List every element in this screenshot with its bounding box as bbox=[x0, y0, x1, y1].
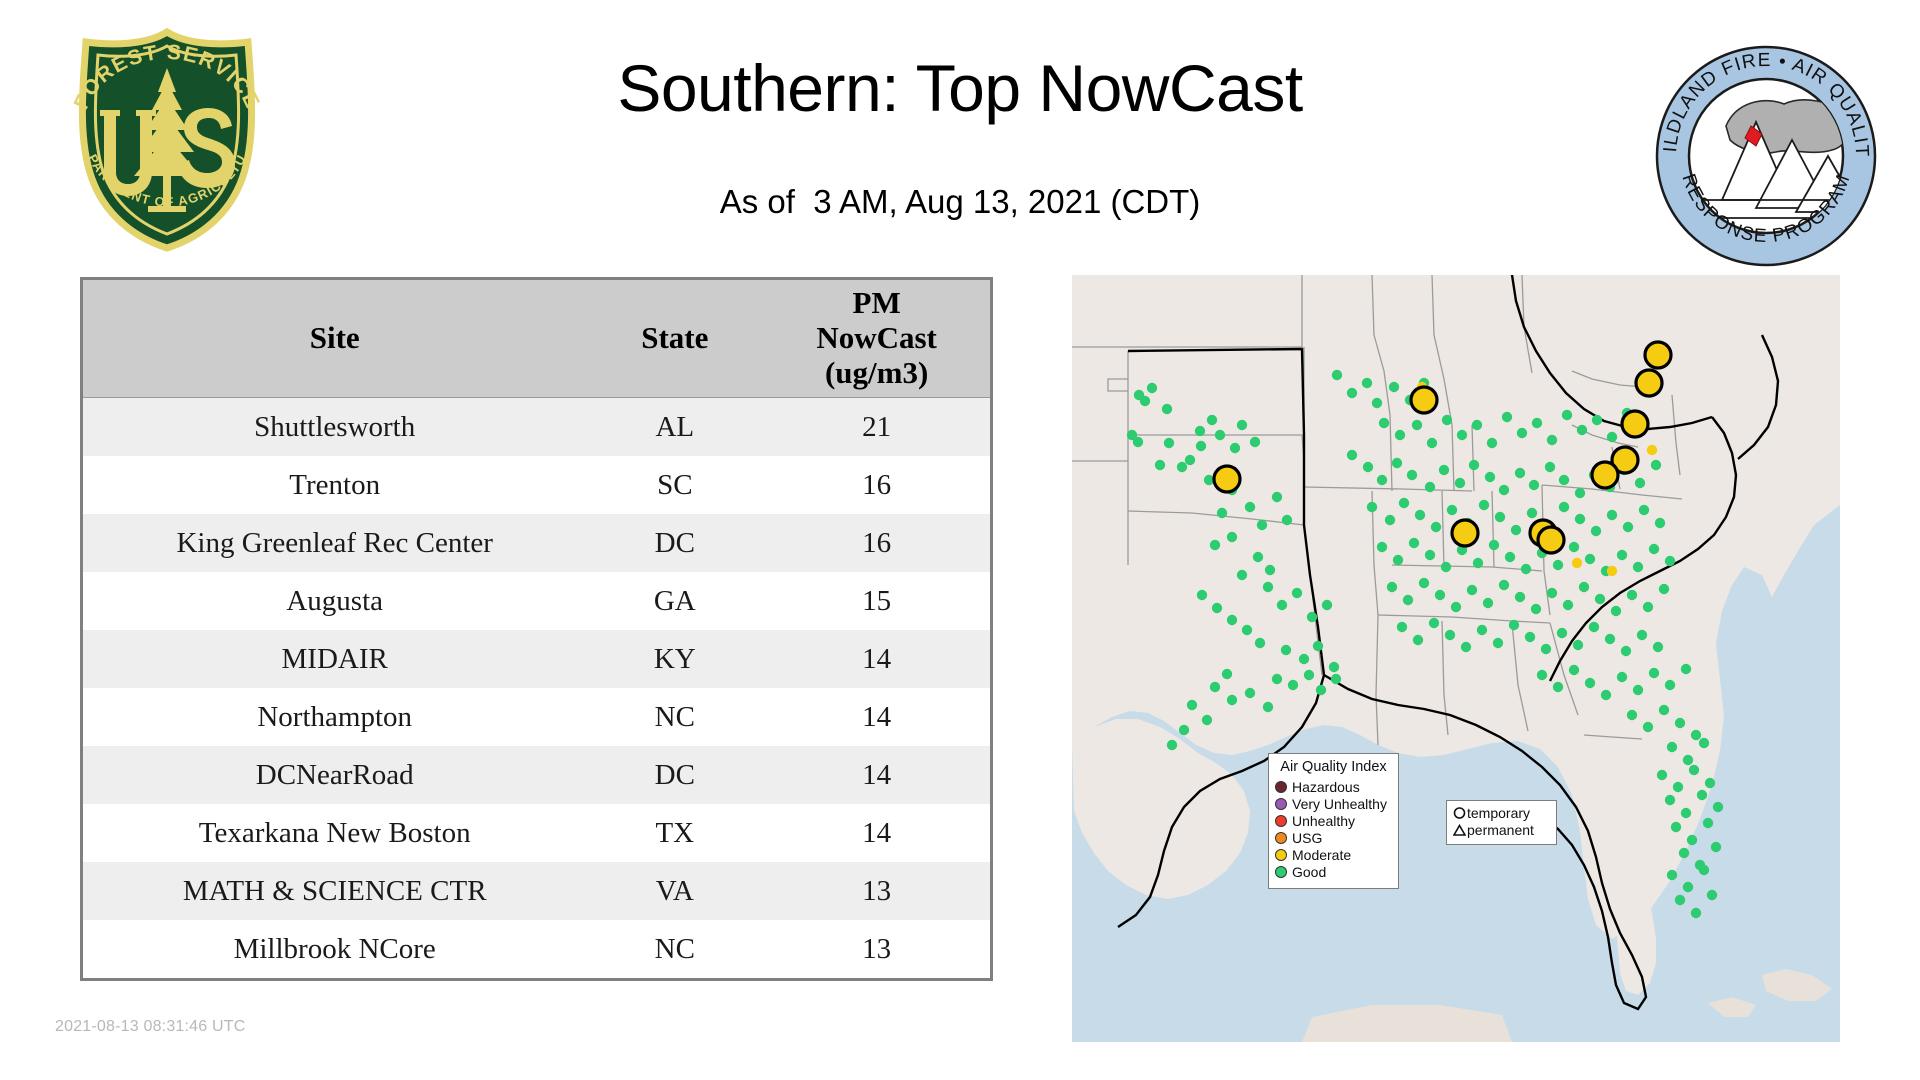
station-marker-good[interactable] bbox=[1643, 722, 1653, 732]
station-marker-good[interactable] bbox=[1429, 618, 1439, 628]
station-marker-good[interactable] bbox=[1227, 532, 1237, 542]
station-marker-good[interactable] bbox=[1425, 550, 1435, 560]
station-marker-good[interactable] bbox=[1451, 602, 1461, 612]
station-marker-good[interactable] bbox=[1515, 592, 1525, 602]
station-marker-good[interactable] bbox=[1367, 502, 1377, 512]
nowcast-table-panel: Site State PM NowCast (ug/m3) Shuttleswo… bbox=[80, 277, 993, 981]
station-marker-good[interactable] bbox=[1559, 475, 1569, 485]
station-marker-good[interactable] bbox=[1635, 478, 1645, 488]
station-marker-good[interactable] bbox=[1472, 420, 1482, 430]
station-marker-good[interactable] bbox=[1681, 664, 1691, 674]
station-marker-good[interactable] bbox=[1392, 458, 1402, 468]
wfaqrp-logo: WILDLAND FIRE • AIR QUALITY RESPONSE PRO… bbox=[1652, 42, 1880, 270]
station-marker-good[interactable] bbox=[1207, 415, 1217, 425]
station-marker-moderate[interactable] bbox=[1607, 566, 1617, 576]
legend-label-permanent: permanent bbox=[1467, 823, 1534, 838]
station-marker-good[interactable] bbox=[1397, 622, 1407, 632]
highlighted-station-marker[interactable]: Augusta (GA) bbox=[1538, 527, 1564, 553]
nowcast-table: Site State PM NowCast (ug/m3) Shuttleswo… bbox=[83, 280, 990, 978]
station-marker-good[interactable] bbox=[1502, 412, 1512, 422]
column-header-state: State bbox=[586, 280, 763, 397]
station-marker-good[interactable] bbox=[1665, 680, 1675, 690]
station-marker-good[interactable] bbox=[1257, 520, 1267, 530]
station-marker-good[interactable] bbox=[1329, 662, 1339, 672]
station-marker-good[interactable] bbox=[1495, 512, 1505, 522]
station-marker-good[interactable] bbox=[1545, 462, 1555, 472]
station-marker-good[interactable] bbox=[1155, 460, 1165, 470]
station-marker-good[interactable] bbox=[1659, 705, 1669, 715]
station-marker-good[interactable] bbox=[1425, 482, 1435, 492]
station-marker-good[interactable] bbox=[1585, 554, 1595, 564]
pm-cell: 13 bbox=[763, 920, 990, 978]
station-marker-good[interactable] bbox=[1316, 685, 1326, 695]
station-marker-good[interactable] bbox=[1387, 582, 1397, 592]
station-marker-good[interactable] bbox=[1140, 396, 1150, 406]
station-marker-good[interactable] bbox=[1292, 588, 1302, 598]
station-marker-good[interactable] bbox=[1412, 420, 1422, 430]
station-marker-good[interactable] bbox=[1485, 472, 1495, 482]
station-marker-good[interactable] bbox=[1253, 552, 1263, 562]
aqi-swatch-icon bbox=[1275, 815, 1287, 827]
station-marker-good[interactable] bbox=[1711, 842, 1721, 852]
station-marker-good[interactable] bbox=[1409, 538, 1419, 548]
station-marker-good[interactable] bbox=[1195, 426, 1205, 436]
site-cell: Millbrook NCore bbox=[83, 920, 586, 978]
highlighted-station-marker[interactable]: Texarkana New Boston (TX) bbox=[1214, 466, 1240, 492]
state-cell: TX bbox=[586, 804, 763, 862]
aqi-swatch-icon bbox=[1275, 832, 1287, 844]
station-marker-good[interactable] bbox=[1499, 580, 1509, 590]
aqi-swatch-icon bbox=[1275, 849, 1287, 861]
pm-cell: 14 bbox=[763, 804, 990, 862]
pm-cell: 14 bbox=[763, 688, 990, 746]
station-marker-good[interactable] bbox=[1532, 418, 1542, 428]
state-cell: SC bbox=[586, 456, 763, 514]
table-row: Texarkana New BostonTX14 bbox=[83, 804, 990, 862]
generation-timestamp: 2021-08-13 08:31:46 UTC bbox=[55, 1018, 246, 1036]
station-marker-good[interactable] bbox=[1227, 695, 1237, 705]
station-marker-good[interactable] bbox=[1441, 562, 1451, 572]
station-marker-good[interactable] bbox=[1447, 505, 1457, 515]
station-marker-good[interactable] bbox=[1304, 670, 1314, 680]
station-marker-good[interactable] bbox=[1442, 415, 1452, 425]
station-marker-good[interactable] bbox=[1185, 455, 1195, 465]
aqi-legend-label: USG bbox=[1292, 831, 1322, 846]
state-cell: AL bbox=[586, 397, 763, 456]
station-marker-good[interactable] bbox=[1515, 468, 1525, 478]
station-marker-good[interactable] bbox=[1562, 410, 1572, 420]
station-marker-good[interactable] bbox=[1601, 690, 1611, 700]
table-row: King Greenleaf Rec CenterDC16 bbox=[83, 514, 990, 572]
station-marker-good[interactable] bbox=[1563, 600, 1573, 610]
station-marker-good[interactable] bbox=[1607, 432, 1617, 442]
highlighted-station-marker[interactable]: DCNearRoad (DC) bbox=[1645, 342, 1671, 368]
station-marker-good[interactable] bbox=[1509, 620, 1519, 630]
aqi-legend-label: Very Unhealthy bbox=[1292, 797, 1387, 812]
station-marker-good[interactable] bbox=[1372, 398, 1382, 408]
station-marker-good[interactable] bbox=[1347, 388, 1357, 398]
station-marker-good[interactable] bbox=[1272, 492, 1282, 502]
station-marker-good[interactable] bbox=[1347, 450, 1357, 460]
state-cell: DC bbox=[586, 746, 763, 804]
station-marker-good[interactable] bbox=[1377, 475, 1387, 485]
station-marker-good[interactable] bbox=[1633, 685, 1643, 695]
station-marker-good[interactable] bbox=[1277, 600, 1287, 610]
station-marker-good[interactable] bbox=[1655, 518, 1665, 528]
station-marker-good[interactable] bbox=[1679, 848, 1689, 858]
station-marker-good[interactable] bbox=[1307, 612, 1317, 622]
site-cell: MATH & SCIENCE CTR bbox=[83, 862, 586, 920]
station-marker-good[interactable] bbox=[1683, 755, 1693, 765]
highlighted-station-marker[interactable]: Millbrook NCore (NC) bbox=[1592, 462, 1618, 488]
station-marker-good[interactable] bbox=[1439, 465, 1449, 475]
station-marker-good[interactable] bbox=[1230, 443, 1240, 453]
state-cell: DC bbox=[586, 514, 763, 572]
pm-cell: 16 bbox=[763, 514, 990, 572]
station-marker-good[interactable] bbox=[1215, 430, 1225, 440]
station-marker-good[interactable] bbox=[1521, 564, 1531, 574]
station-marker-good[interactable] bbox=[1505, 552, 1515, 562]
table-row: DCNearRoadDC14 bbox=[83, 746, 990, 804]
station-marker-good[interactable] bbox=[1577, 425, 1587, 435]
station-marker-good[interactable] bbox=[1461, 642, 1471, 652]
site-cell: Augusta bbox=[83, 572, 586, 630]
station-marker-good[interactable] bbox=[1569, 542, 1579, 552]
table-header-row: Site State PM NowCast (ug/m3) bbox=[83, 280, 990, 397]
station-marker-good[interactable] bbox=[1547, 435, 1557, 445]
station-marker-good[interactable] bbox=[1210, 540, 1220, 550]
station-marker-good[interactable] bbox=[1585, 678, 1595, 688]
highlighted-station-marker[interactable]: Northampton (NC) bbox=[1622, 411, 1648, 437]
station-marker-good[interactable] bbox=[1617, 672, 1627, 682]
station-marker-good[interactable] bbox=[1363, 462, 1373, 472]
table-row: AugustaGA15 bbox=[83, 572, 990, 630]
highlighted-station-marker[interactable]: King Greenleaf Rec Center (DC) bbox=[1636, 370, 1662, 396]
station-marker-good[interactable] bbox=[1217, 508, 1227, 518]
station-marker-good[interactable] bbox=[1419, 578, 1429, 588]
aqi-legend-row: Very Unhealthy bbox=[1275, 796, 1392, 813]
station-marker-good[interactable] bbox=[1653, 642, 1663, 652]
station-marker-good[interactable] bbox=[1389, 382, 1399, 392]
station-marker-good[interactable] bbox=[1589, 622, 1599, 632]
station-marker-good[interactable] bbox=[1667, 870, 1677, 880]
station-marker-good[interactable] bbox=[1573, 640, 1583, 650]
station-marker-good[interactable] bbox=[1591, 526, 1601, 536]
station-marker-good[interactable] bbox=[1147, 383, 1157, 393]
triangle-outline-icon bbox=[1452, 824, 1467, 837]
station-marker-good[interactable] bbox=[1517, 428, 1527, 438]
station-marker-good[interactable] bbox=[1649, 544, 1659, 554]
station-marker-good[interactable] bbox=[1607, 510, 1617, 520]
station-marker-good[interactable] bbox=[1196, 441, 1206, 451]
station-marker-good[interactable] bbox=[1595, 594, 1605, 604]
state-cell: KY bbox=[586, 630, 763, 688]
station-marker-good[interactable] bbox=[1469, 460, 1479, 470]
table-row: MATH & SCIENCE CTRVA13 bbox=[83, 862, 990, 920]
station-marker-good[interactable] bbox=[1627, 590, 1637, 600]
station-marker-good[interactable] bbox=[1547, 588, 1557, 598]
station-marker-good[interactable] bbox=[1379, 418, 1389, 428]
station-marker-good[interactable] bbox=[1671, 822, 1681, 832]
aqi-legend-row: Hazardous bbox=[1275, 779, 1392, 796]
station-marker-good[interactable] bbox=[1263, 702, 1273, 712]
aqi-legend-row: USG bbox=[1275, 830, 1392, 847]
aqi-swatch-icon bbox=[1275, 866, 1287, 878]
station-marker-good[interactable] bbox=[1559, 502, 1569, 512]
station-marker-good[interactable] bbox=[1377, 542, 1387, 552]
state-cell: GA bbox=[586, 572, 763, 630]
page-subtitle: As of 3 AM, Aug 13, 2021 (CDT) bbox=[300, 185, 1620, 218]
station-marker-good[interactable] bbox=[1621, 646, 1631, 656]
pm-cell: 15 bbox=[763, 572, 990, 630]
station-marker-good[interactable] bbox=[1681, 808, 1691, 818]
station-marker-good[interactable] bbox=[1250, 437, 1260, 447]
station-marker-good[interactable] bbox=[1133, 437, 1143, 447]
station-marker-good[interactable] bbox=[1479, 500, 1489, 510]
station-marker-good[interactable] bbox=[1691, 730, 1701, 740]
station-marker-good[interactable] bbox=[1487, 438, 1497, 448]
station-marker-good[interactable] bbox=[1313, 641, 1323, 651]
station-marker-good[interactable] bbox=[1527, 508, 1537, 518]
station-marker-good[interactable] bbox=[1657, 770, 1667, 780]
site-cell: King Greenleaf Rec Center bbox=[83, 514, 586, 572]
legend-label-temporary: temporary bbox=[1467, 806, 1530, 821]
state-cell: NC bbox=[586, 920, 763, 978]
station-marker-good[interactable] bbox=[1197, 590, 1207, 600]
site-cell: Trenton bbox=[83, 456, 586, 514]
station-marker-good[interactable] bbox=[1665, 556, 1675, 566]
station-marker-good[interactable] bbox=[1665, 795, 1675, 805]
station-marker-good[interactable] bbox=[1575, 514, 1585, 524]
aqi-legend-row: Moderate bbox=[1275, 847, 1392, 864]
station-marker-good[interactable] bbox=[1455, 478, 1465, 488]
aqi-legend: Air Quality Index HazardousVery Unhealth… bbox=[1268, 753, 1399, 889]
table-row: NorthamptonNC14 bbox=[83, 688, 990, 746]
station-marker-good[interactable] bbox=[1332, 370, 1342, 380]
station-marker-good[interactable] bbox=[1703, 818, 1713, 828]
circle-outline-icon bbox=[1452, 807, 1467, 820]
station-marker-good[interactable] bbox=[1322, 600, 1332, 610]
station-marker-good[interactable] bbox=[1212, 603, 1222, 613]
pm-cell: 14 bbox=[763, 746, 990, 804]
station-marker-good[interactable] bbox=[1683, 882, 1693, 892]
station-marker-good[interactable] bbox=[1617, 550, 1627, 560]
site-cell: MIDAIR bbox=[83, 630, 586, 688]
station-marker-good[interactable] bbox=[1281, 645, 1291, 655]
aqi-swatch-icon bbox=[1275, 781, 1287, 793]
table-row: ShuttlesworthAL21 bbox=[83, 397, 990, 456]
station-marker-good[interactable] bbox=[1489, 540, 1499, 550]
page-title: Southern: Top NowCast bbox=[300, 55, 1620, 121]
station-marker-good[interactable] bbox=[1611, 606, 1621, 616]
station-marker-good[interactable] bbox=[1177, 462, 1187, 472]
site-cell: DCNearRoad bbox=[83, 746, 586, 804]
station-marker-good[interactable] bbox=[1537, 670, 1547, 680]
station-marker-good[interactable] bbox=[1179, 725, 1189, 735]
station-marker-good[interactable] bbox=[1525, 632, 1535, 642]
station-marker-good[interactable] bbox=[1643, 602, 1653, 612]
station-marker-good[interactable] bbox=[1242, 625, 1252, 635]
station-marker-good[interactable] bbox=[1697, 790, 1707, 800]
station-marker-good[interactable] bbox=[1427, 438, 1437, 448]
station-marker-moderate[interactable] bbox=[1647, 445, 1657, 455]
station-marker-good[interactable] bbox=[1227, 615, 1237, 625]
highlighted-station-marker[interactable]: Shuttlesworth (AL) bbox=[1452, 520, 1478, 546]
aqi-legend-label: Good bbox=[1292, 865, 1326, 880]
legend-row-permanent: permanent bbox=[1452, 822, 1551, 839]
station-marker-good[interactable] bbox=[1431, 522, 1441, 532]
aqi-swatch-icon bbox=[1275, 798, 1287, 810]
station-marker-good[interactable] bbox=[1569, 665, 1579, 675]
usfs-shield-logo: FOREST SERVICE DEPARTMENT OF AGRICULTURE bbox=[56, 26, 278, 254]
station-marker-good[interactable] bbox=[1477, 625, 1487, 635]
station-marker-good[interactable] bbox=[1659, 584, 1669, 594]
station-marker-good[interactable] bbox=[1687, 835, 1697, 845]
station-marker-good[interactable] bbox=[1245, 502, 1255, 512]
station-marker-good[interactable] bbox=[1395, 430, 1405, 440]
station-marker-good[interactable] bbox=[1162, 404, 1172, 414]
aqi-legend-label: Moderate bbox=[1292, 848, 1351, 863]
station-marker-good[interactable] bbox=[1689, 765, 1699, 775]
station-marker-good[interactable] bbox=[1673, 782, 1683, 792]
station-marker-good[interactable] bbox=[1407, 470, 1417, 480]
station-marker-good[interactable] bbox=[1627, 710, 1637, 720]
station-marker-good[interactable] bbox=[1575, 488, 1585, 498]
station-marker-good[interactable] bbox=[1707, 890, 1717, 900]
station-marker-good[interactable] bbox=[1705, 778, 1715, 788]
station-marker-good[interactable] bbox=[1553, 560, 1563, 570]
table-row: Millbrook NCoreNC13 bbox=[83, 920, 990, 978]
legend-row-temporary: temporary bbox=[1452, 805, 1551, 822]
station-marker-good[interactable] bbox=[1637, 630, 1647, 640]
station-marker-good[interactable] bbox=[1675, 895, 1685, 905]
station-marker-good[interactable] bbox=[1605, 634, 1615, 644]
state-cell: NC bbox=[586, 688, 763, 746]
site-cell: Northampton bbox=[83, 688, 586, 746]
station-marker-good[interactable] bbox=[1263, 582, 1273, 592]
state-cell: VA bbox=[586, 862, 763, 920]
aqi-legend-label: Hazardous bbox=[1292, 780, 1360, 795]
pm-cell: 14 bbox=[763, 630, 990, 688]
station-marker-good[interactable] bbox=[1237, 420, 1247, 430]
station-marker-good[interactable] bbox=[1649, 668, 1659, 678]
station-marker-good[interactable] bbox=[1531, 604, 1541, 614]
station-marker-good[interactable] bbox=[1473, 558, 1483, 568]
station-marker-good[interactable] bbox=[1651, 460, 1661, 470]
station-marker-good[interactable] bbox=[1445, 630, 1455, 640]
station-marker-good[interactable] bbox=[1499, 485, 1509, 495]
station-marker-good[interactable] bbox=[1210, 682, 1220, 692]
station-marker-good[interactable] bbox=[1415, 510, 1425, 520]
station-marker-good[interactable] bbox=[1713, 802, 1723, 812]
station-marker-good[interactable] bbox=[1331, 674, 1341, 684]
station-marker-good[interactable] bbox=[1385, 515, 1395, 525]
station-marker-good[interactable] bbox=[1202, 715, 1212, 725]
aqi-legend-row: Good bbox=[1275, 864, 1392, 881]
station-marker-good[interactable] bbox=[1557, 628, 1567, 638]
station-marker-good[interactable] bbox=[1282, 515, 1292, 525]
station-marker-good[interactable] bbox=[1553, 682, 1563, 692]
station-marker-moderate[interactable] bbox=[1572, 558, 1582, 568]
station-marker-good[interactable] bbox=[1633, 562, 1643, 572]
column-header-site: Site bbox=[83, 280, 586, 397]
site-cell: Shuttlesworth bbox=[83, 397, 586, 456]
station-marker-good[interactable] bbox=[1511, 525, 1521, 535]
station-marker-good[interactable] bbox=[1691, 908, 1701, 918]
aqi-map[interactable]: Shuttlesworth (AL)Trenton (SC)King Green… bbox=[1072, 275, 1840, 1042]
station-marker-good[interactable] bbox=[1272, 674, 1282, 684]
pm-cell: 16 bbox=[763, 456, 990, 514]
station-marker-good[interactable] bbox=[1245, 688, 1255, 698]
pm-cell: 13 bbox=[763, 862, 990, 920]
station-marker-good[interactable] bbox=[1435, 590, 1445, 600]
station-marker-good[interactable] bbox=[1222, 669, 1232, 679]
station-marker-good[interactable] bbox=[1667, 742, 1677, 752]
table-row: TrentonSC16 bbox=[83, 456, 990, 514]
station-marker-good[interactable] bbox=[1413, 635, 1423, 645]
column-header-pm: PM NowCast (ug/m3) bbox=[763, 280, 990, 397]
station-marker-good[interactable] bbox=[1675, 718, 1685, 728]
station-marker-good[interactable] bbox=[1639, 505, 1649, 515]
station-marker-good[interactable] bbox=[1362, 378, 1372, 388]
station-type-legend: temporary permanent bbox=[1446, 800, 1557, 845]
station-marker-good[interactable] bbox=[1393, 555, 1403, 565]
highlighted-station-marker[interactable]: MIDAIR (KY) bbox=[1411, 387, 1437, 413]
station-marker-good[interactable] bbox=[1299, 654, 1309, 664]
station-marker-good[interactable] bbox=[1529, 480, 1539, 490]
station-marker-good[interactable] bbox=[1592, 415, 1602, 425]
station-marker-good[interactable] bbox=[1265, 565, 1275, 575]
station-marker-good[interactable] bbox=[1187, 700, 1197, 710]
aqi-legend-title: Air Quality Index bbox=[1275, 759, 1392, 776]
station-marker-good[interactable] bbox=[1457, 430, 1467, 440]
station-marker-good[interactable] bbox=[1399, 498, 1409, 508]
table-row: MIDAIRKY14 bbox=[83, 630, 990, 688]
station-marker-good[interactable] bbox=[1541, 644, 1551, 654]
pm-cell: 21 bbox=[763, 397, 990, 456]
station-marker-good[interactable] bbox=[1403, 595, 1413, 605]
station-marker-good[interactable] bbox=[1255, 638, 1265, 648]
station-marker-good[interactable] bbox=[1579, 582, 1589, 592]
station-marker-good[interactable] bbox=[1237, 570, 1247, 580]
station-marker-good[interactable] bbox=[1164, 438, 1174, 448]
aqi-legend-label: Unhealthy bbox=[1292, 814, 1355, 829]
aqi-legend-row: Unhealthy bbox=[1275, 813, 1392, 830]
station-marker-good[interactable] bbox=[1483, 598, 1493, 608]
station-marker-good[interactable] bbox=[1493, 638, 1503, 648]
site-cell: Texarkana New Boston bbox=[83, 804, 586, 862]
station-marker-good[interactable] bbox=[1699, 865, 1709, 875]
station-marker-good[interactable] bbox=[1467, 585, 1477, 595]
station-marker-good[interactable] bbox=[1288, 680, 1298, 690]
station-marker-good[interactable] bbox=[1167, 740, 1177, 750]
station-marker-good[interactable] bbox=[1699, 738, 1709, 748]
station-marker-good[interactable] bbox=[1623, 522, 1633, 532]
